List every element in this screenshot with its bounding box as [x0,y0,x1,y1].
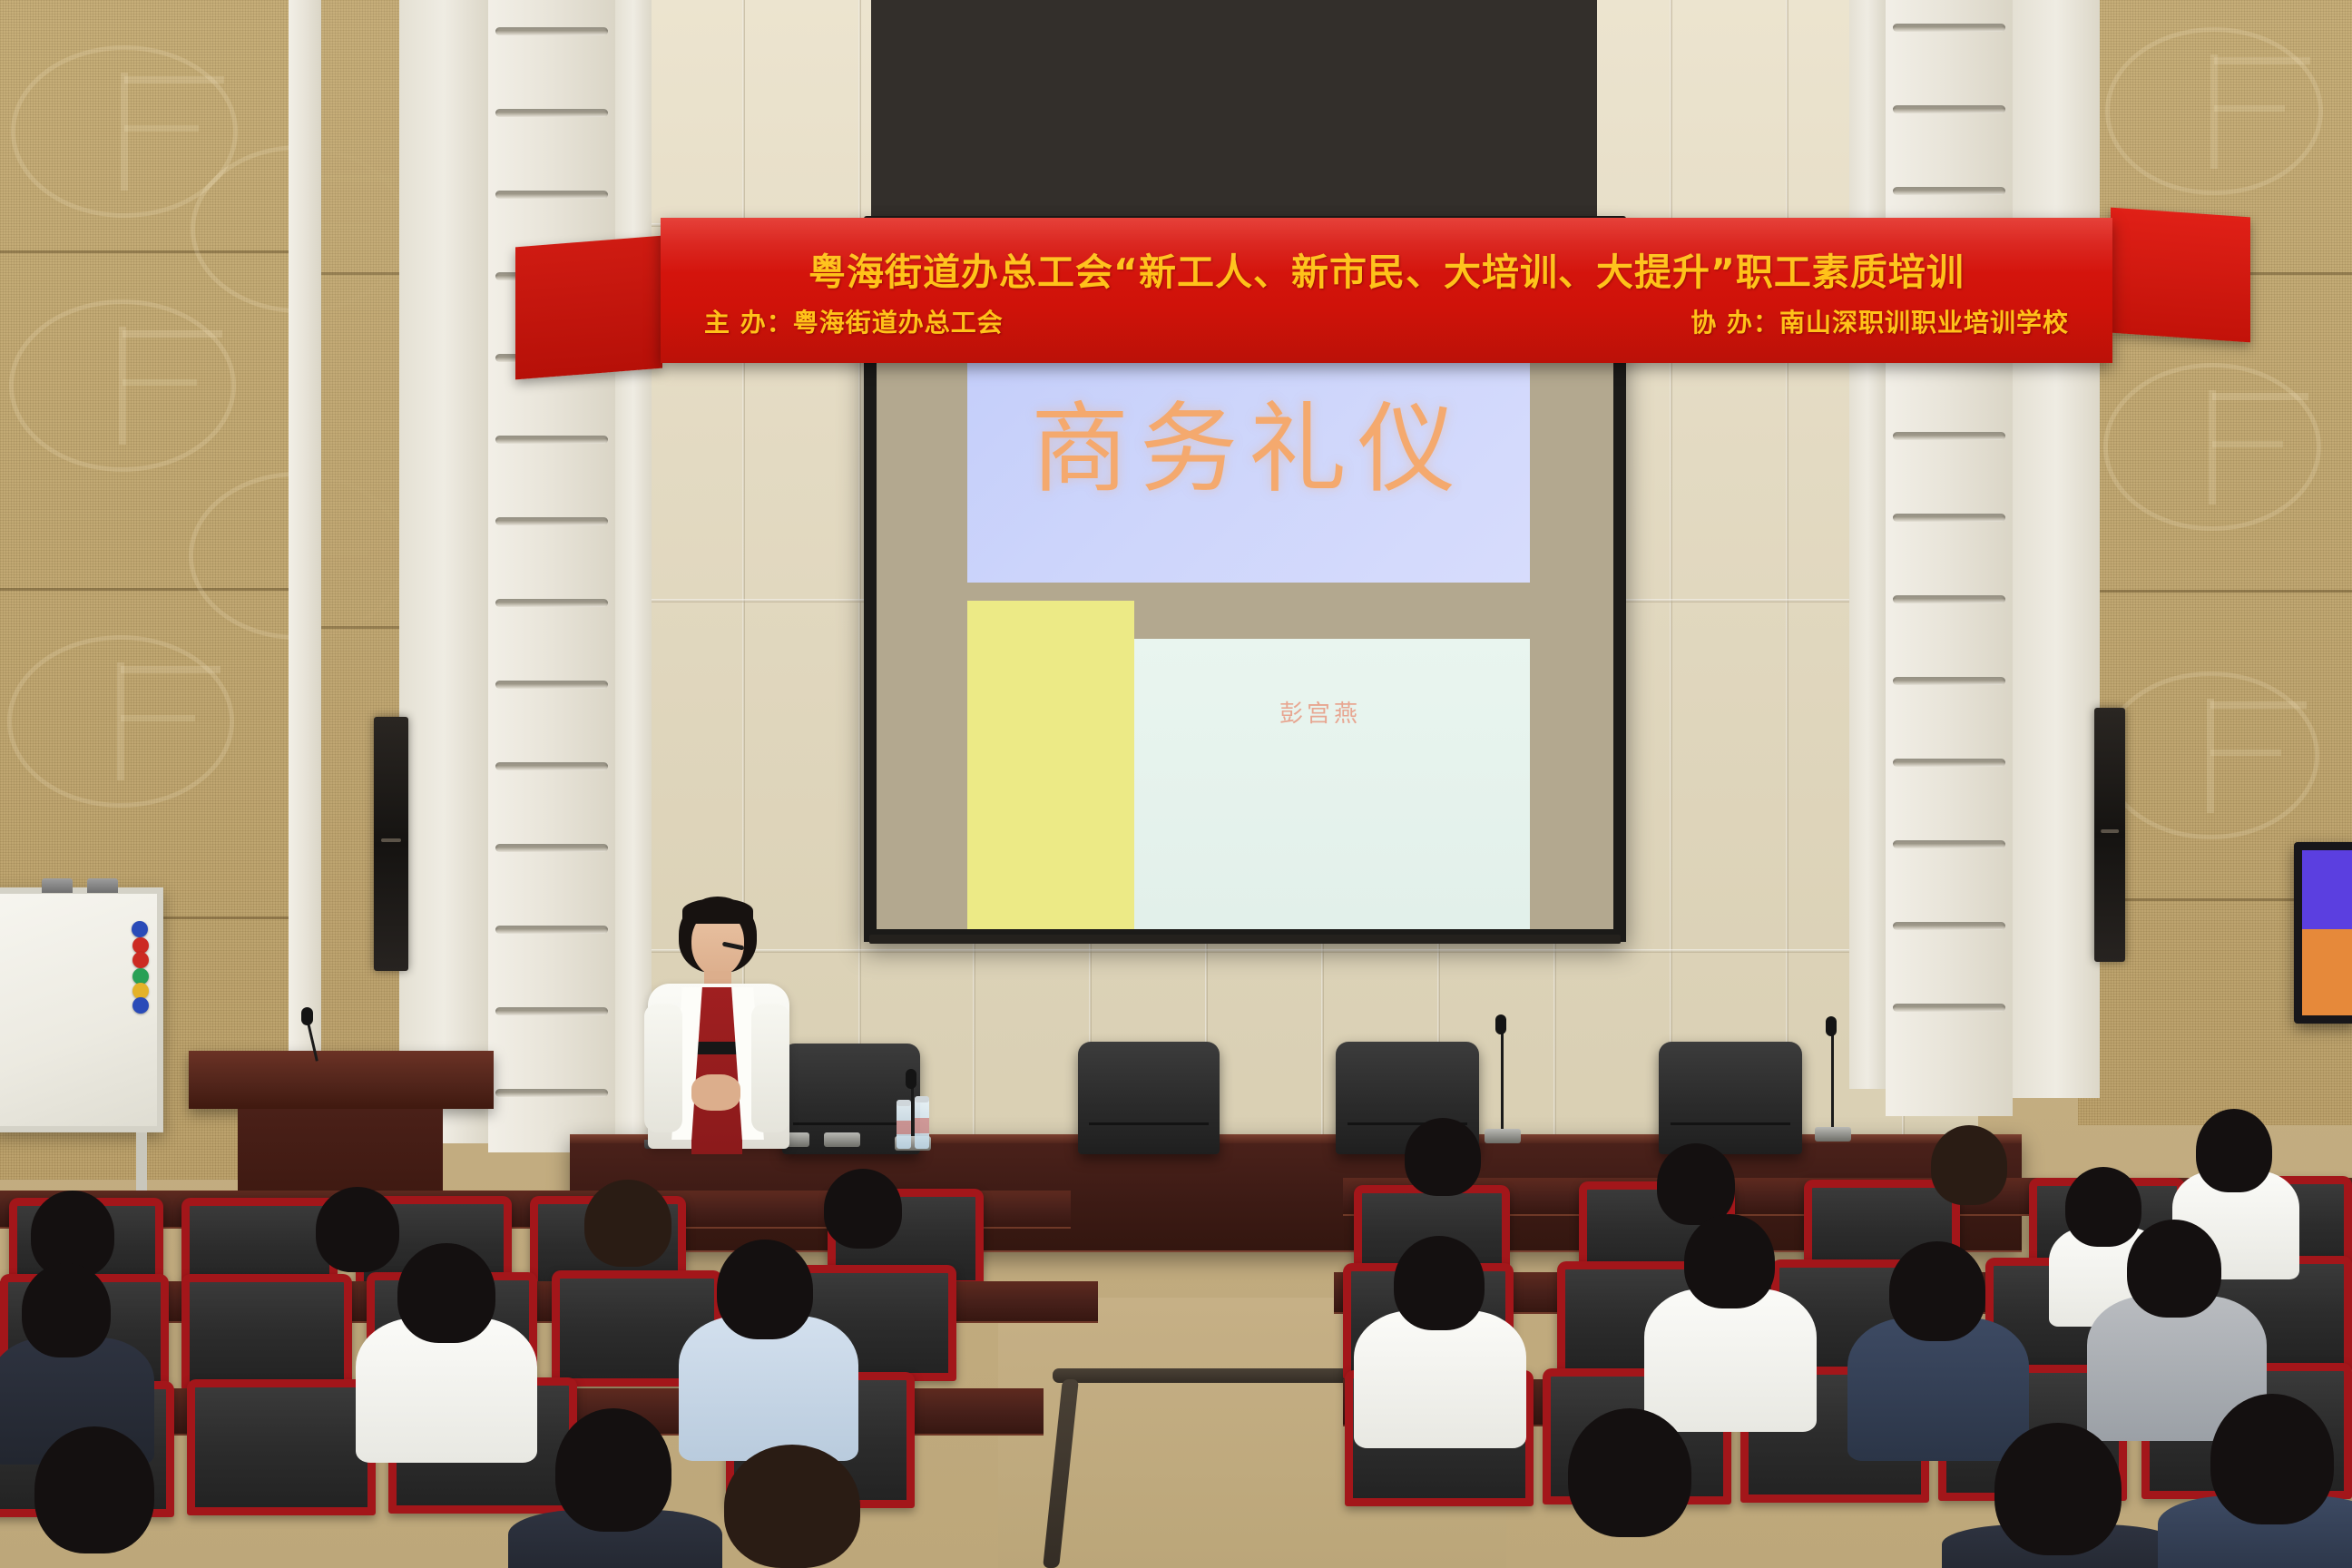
audience-head [2065,1167,2141,1247]
magnet-red[interactable] [132,952,149,968]
audience-head [717,1240,813,1339]
slide-presenter-name: 彭宫燕 [1279,695,1361,729]
audience-head [724,1445,860,1568]
table-row[interactable] [1659,1042,1802,1154]
presenter-fringe [682,898,753,924]
slide-content-block: 彭宫燕 [1134,639,1530,929]
presenter-arm-left [644,1004,682,1132]
list-item[interactable] [181,1274,352,1390]
banner-main-title: 粤海街道办总工会“新工人、新市民、大培训、大提升”职工素质培训 [691,241,2082,296]
banner-right-flap [2111,208,2250,343]
audience-head [22,1263,111,1357]
projection-screen-weight-bar [869,935,1621,944]
audience-head [824,1169,902,1249]
audience-torso [1644,1289,1817,1432]
wall-emblem-icon [2102,671,2319,839]
wall-emblem-icon [2103,363,2321,531]
monitor-bottom-region [2302,929,2352,1015]
audience-head [397,1243,495,1343]
list-item[interactable] [187,1379,376,1515]
whiteboard-clip[interactable] [42,878,73,893]
table-mic-base [1485,1129,1521,1143]
event-banner: 粤海街道办总工会“新工人、新市民、大培训、大提升”职工素质培训 主 办：粤海街道… [661,218,2112,363]
wall-emblem-icon [7,635,234,808]
column-right-outer [2013,0,2100,1098]
banner-subtitle-row: 主 办：粤海街道办总工会 协 办：南山深职训职业培训学校 [691,303,2082,339]
audience-head [316,1187,399,1272]
table-mic-base [1815,1127,1851,1142]
table-mic-head-icon [906,1069,916,1089]
slide-title-text: 商务礼仪 [1031,370,1466,512]
table-mic-base [824,1132,860,1147]
column-right-inner [1849,0,1886,1089]
whiteboard-clip[interactable] [87,878,118,893]
column-slot-group [1886,0,2013,1116]
magnet-blue[interactable] [132,997,149,1014]
audience-head [1931,1125,2007,1205]
audience-head [1568,1408,1691,1537]
column-far-left [289,0,321,1125]
audience-head [2210,1394,2334,1524]
audience-head [1394,1236,1485,1330]
podium-top [189,1051,494,1109]
column-slot-group [488,0,615,1152]
banner-face: 粤海街道办总工会“新工人、新市民、大培训、大提升”职工素质培训 主 办：粤海街道… [661,218,2112,363]
wall-emblem-icon [2105,27,2323,195]
audience-torso [1354,1310,1526,1448]
conference-hall-scene: 商务礼仪 彭宫燕 粤海街道办总工会“新工人、新市民、大培训、大提升”职工素质培训… [0,0,2352,1568]
audience-head [2196,1109,2272,1192]
slide-yellow-block [967,601,1134,929]
monitor-top-region [2302,850,2352,929]
right-wall-speaker [2094,708,2125,962]
banner-co-organizer: 协 办：南山深职训职业培训学校 [1690,303,2069,339]
monitor-screen [2302,850,2352,1015]
whiteboard[interactable] [0,887,163,1132]
audience-head [555,1408,671,1532]
audience-head [1684,1214,1775,1308]
audience-head [1889,1241,1985,1341]
aisle-handrail [1053,1368,1361,1383]
audience-head [584,1180,671,1267]
banner-organizer: 主 办：粤海街道办总工会 [704,303,1004,339]
ceiling-recess-panel [871,0,1597,227]
presenter-arm-right [751,1004,789,1132]
audience-head [1405,1118,1481,1196]
left-wall-speaker [374,717,408,971]
banner-left-flap [515,236,662,380]
table-mic-head-icon [1495,1014,1506,1034]
presenter-hands [691,1074,740,1111]
column-right-slotted [1886,0,2013,1116]
table-row[interactable] [1078,1042,1220,1154]
audience-head [1657,1143,1735,1225]
table-mic-head-icon [1826,1016,1837,1036]
audience-head [34,1426,154,1553]
water-bottle[interactable] [915,1096,929,1149]
water-bottle[interactable] [897,1100,911,1149]
magnet-blue[interactable] [132,921,148,937]
audience-head [2127,1220,2221,1318]
column-left-outer [399,0,488,1143]
column-left-slotted [488,0,615,1152]
audience-head [1994,1423,2122,1555]
wall-emblem-icon [9,299,236,472]
wall-mounted-monitor[interactable] [2294,842,2352,1024]
presenter-figure [635,897,799,1169]
table-mic-stalk [1501,1025,1504,1136]
table-mic-stalk [1831,1027,1834,1134]
podium-mic-head-icon [301,1007,313,1025]
